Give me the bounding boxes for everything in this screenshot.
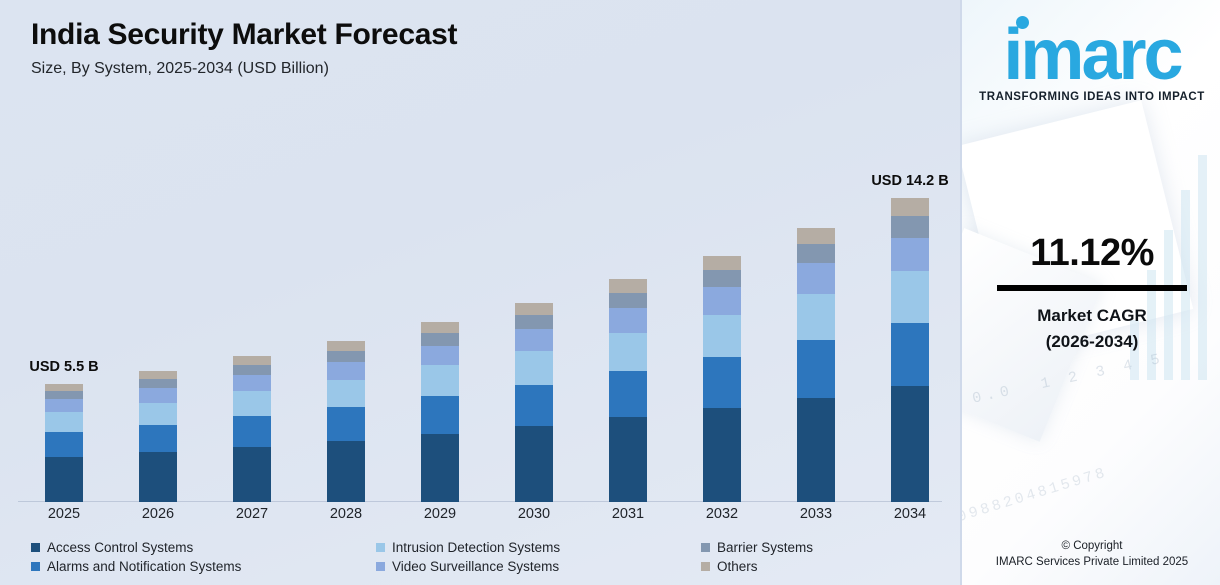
bar-segment[interactable] (703, 287, 741, 314)
x-tick-2030: 2030 (489, 506, 579, 522)
bar-group-2025[interactable]: USD 5.5 B (45, 384, 83, 502)
bar-segment[interactable] (45, 391, 83, 399)
bar-group-2029[interactable] (421, 322, 459, 502)
bar-segment[interactable] (139, 452, 177, 502)
stacked-bar[interactable] (45, 384, 83, 502)
bar-segment[interactable] (891, 216, 929, 237)
brand-panel: 0.0 1 2 3 4 5 0988204815978 imarc TRANSF… (960, 0, 1220, 585)
bar-value-label: USD 5.5 B (29, 359, 98, 375)
bar-value-label: USD 14.2 B (871, 173, 948, 189)
bar-segment[interactable] (703, 315, 741, 357)
stacked-bar[interactable] (139, 371, 177, 502)
bar-segment[interactable] (515, 385, 553, 427)
bar-segment[interactable] (421, 396, 459, 434)
bar-segment[interactable] (233, 375, 271, 391)
imarc-logo: imarc TRANSFORMING IDEAS INTO IMPACT (962, 14, 1220, 103)
bar-segment[interactable] (45, 432, 83, 457)
bar-segment[interactable] (327, 341, 365, 350)
stacked-bar[interactable] (515, 303, 553, 502)
stacked-bar[interactable] (891, 198, 929, 502)
legend-swatch-icon (31, 543, 40, 552)
bar-segment[interactable] (233, 356, 271, 365)
copyright-line-1: © Copyright (962, 538, 1220, 555)
bar-segment[interactable] (515, 315, 553, 329)
bar-segment[interactable] (515, 426, 553, 502)
bar-segment[interactable] (891, 323, 929, 387)
legend-swatch-icon (376, 543, 385, 552)
bar-segment[interactable] (609, 293, 647, 309)
bar-segment[interactable] (891, 198, 929, 216)
x-tick-2031: 2031 (583, 506, 673, 522)
bar-segment[interactable] (609, 308, 647, 332)
bar-segment[interactable] (797, 294, 835, 341)
bar-segment[interactable] (139, 371, 177, 379)
cagr-caption-line1: Market CAGR (962, 303, 1220, 329)
chart-legend: Access Control SystemsIntrusion Detectio… (31, 538, 936, 576)
stacked-bar[interactable] (797, 228, 835, 502)
bar-group-2034[interactable]: USD 14.2 B (891, 198, 929, 502)
bar-segment[interactable] (139, 403, 177, 425)
bar-segment[interactable] (327, 407, 365, 441)
cagr-value: 11.12% (962, 232, 1220, 275)
bar-segment[interactable] (233, 365, 271, 375)
stacked-bar[interactable] (421, 322, 459, 502)
bar-segment[interactable] (703, 256, 741, 270)
page-subtitle: Size, By System, 2025-2034 (USD Billion) (31, 60, 457, 78)
x-tick-2029: 2029 (395, 506, 485, 522)
bar-segment[interactable] (45, 399, 83, 412)
bar-segment[interactable] (421, 365, 459, 396)
legend-swatch-icon (31, 562, 40, 571)
chart-header: India Security Market Forecast Size, By … (31, 18, 457, 78)
logo-wordmark: imarc (962, 23, 1220, 88)
bar-segment[interactable] (609, 371, 647, 418)
bar-segment[interactable] (421, 322, 459, 333)
bar-group-2033[interactable] (797, 228, 835, 502)
x-tick-2033: 2033 (771, 506, 861, 522)
legend-swatch-icon (376, 562, 385, 571)
legend-swatch-icon (701, 543, 710, 552)
bar-group-2032[interactable] (703, 256, 741, 502)
stacked-bar[interactable] (703, 256, 741, 502)
bar-segment[interactable] (797, 228, 835, 244)
x-tick-2034: 2034 (865, 506, 955, 522)
bar-segment[interactable] (891, 386, 929, 502)
legend-label: Intrusion Detection Systems (392, 540, 560, 555)
bar-segment[interactable] (797, 244, 835, 263)
bar-segment[interactable] (703, 270, 741, 287)
infographic-page: India Security Market Forecast Size, By … (0, 0, 1220, 585)
cagr-block: 11.12% Market CAGR (2026-2034) (962, 232, 1220, 356)
x-tick-2028: 2028 (301, 506, 391, 522)
bar-group-2027[interactable] (233, 356, 271, 502)
bar-segment[interactable] (139, 388, 177, 402)
bar-group-2026[interactable] (139, 371, 177, 502)
bar-segment[interactable] (797, 263, 835, 293)
legend-label: Video Surveillance Systems (392, 559, 559, 574)
bar-segment[interactable] (233, 391, 271, 416)
bar-segment[interactable] (797, 398, 835, 502)
bar-segment[interactable] (609, 333, 647, 371)
bar-segment[interactable] (45, 384, 83, 391)
bar-segment[interactable] (703, 408, 741, 502)
bar-segment[interactable] (515, 303, 553, 315)
bar-segment[interactable] (797, 340, 835, 398)
bar-segment[interactable] (609, 417, 647, 502)
plot-area: USD 5.5 BUSD 14.2 B (0, 112, 960, 502)
bar-segment[interactable] (233, 447, 271, 502)
x-axis-tick-labels: 2025202620272028202920302031203220332034 (0, 506, 960, 532)
bar-segment[interactable] (139, 425, 177, 452)
bar-segment[interactable] (327, 351, 365, 362)
stacked-bar[interactable] (233, 356, 271, 502)
legend-label: Others (717, 559, 758, 574)
bar-segment[interactable] (421, 346, 459, 366)
bar-segment[interactable] (421, 333, 459, 346)
legend-item[interactable]: Access Control Systems (31, 538, 376, 557)
x-tick-2026: 2026 (113, 506, 203, 522)
legend-item[interactable]: Others (701, 557, 936, 576)
x-tick-2025: 2025 (19, 506, 109, 522)
bar-segment[interactable] (139, 379, 177, 388)
stacked-bar[interactable] (327, 341, 365, 502)
chart-panel: India Security Market Forecast Size, By … (0, 0, 960, 585)
legend-label: Alarms and Notification Systems (47, 559, 241, 574)
bar-group-2030[interactable] (515, 303, 553, 502)
legend-item[interactable]: Video Surveillance Systems (376, 557, 701, 576)
cagr-caption-line2: (2026-2034) (962, 329, 1220, 355)
copyright-line-2: IMARC Services Private Limited 2025 (962, 554, 1220, 571)
bar-segment[interactable] (327, 441, 365, 502)
bar-segment[interactable] (515, 351, 553, 385)
bar-segment[interactable] (233, 416, 271, 447)
legend-item[interactable]: Alarms and Notification Systems (31, 557, 376, 576)
bar-segment[interactable] (327, 362, 365, 380)
watermark-digits-2: 0988204815978 (960, 431, 1219, 526)
bar-segment[interactable] (45, 412, 83, 432)
bar-segment[interactable] (421, 434, 459, 502)
logo-tagline: TRANSFORMING IDEAS INTO IMPACT (962, 91, 1220, 103)
copyright-notice: © Copyright IMARC Services Private Limit… (962, 538, 1220, 571)
bar-segment[interactable] (891, 271, 929, 323)
legend-label: Barrier Systems (717, 540, 813, 555)
legend-item[interactable]: Barrier Systems (701, 538, 936, 557)
x-tick-2032: 2032 (677, 506, 767, 522)
stacked-bar[interactable] (609, 279, 647, 502)
legend-swatch-icon (701, 562, 710, 571)
bar-segment[interactable] (609, 279, 647, 292)
logo-dot-icon (1016, 16, 1029, 29)
bar-segment[interactable] (327, 380, 365, 407)
legend-label: Access Control Systems (47, 540, 193, 555)
page-title: India Security Market Forecast (31, 18, 457, 51)
cagr-divider (997, 285, 1187, 291)
bar-segment[interactable] (45, 457, 83, 502)
bar-segment[interactable] (703, 357, 741, 409)
legend-item[interactable]: Intrusion Detection Systems (376, 538, 701, 557)
bar-group-2028[interactable] (327, 341, 365, 502)
bar-segment[interactable] (891, 238, 929, 271)
x-tick-2027: 2027 (207, 506, 297, 522)
bar-segment[interactable] (515, 329, 553, 351)
bar-group-2031[interactable] (609, 279, 647, 502)
